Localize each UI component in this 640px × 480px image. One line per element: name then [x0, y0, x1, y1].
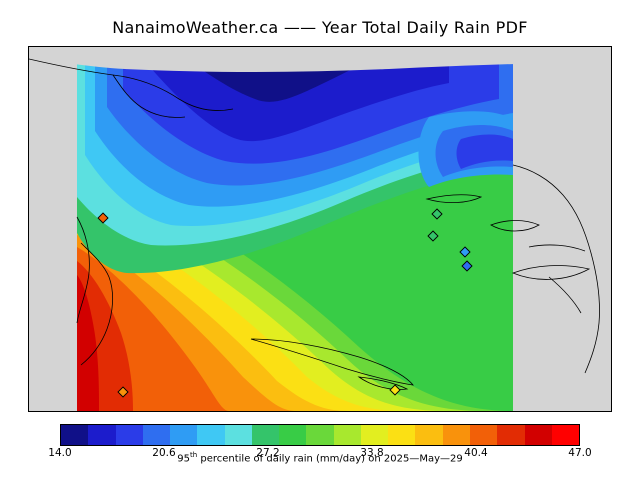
- chart-page: NanaimoWeather.ca —— Year Total Daily Ra…: [0, 0, 640, 480]
- colorbar-swatch-16: [497, 425, 524, 445]
- colorbar-caption: 95th percentile of daily rain (mm/day) o…: [0, 451, 640, 464]
- map-panel: [28, 46, 612, 412]
- colorbar-swatch-12: [388, 425, 415, 445]
- colorbar-swatch-6: [225, 425, 252, 445]
- colorbar-swatch-7: [252, 425, 279, 445]
- page-title: NanaimoWeather.ca —— Year Total Daily Ra…: [0, 18, 640, 37]
- colorbar-swatch-10: [334, 425, 361, 445]
- contour-field: [77, 47, 513, 411]
- colorbar-swatch-17: [525, 425, 552, 445]
- colorbar-swatch-15: [470, 425, 497, 445]
- colorbar-swatch-14: [443, 425, 470, 445]
- colorbar-swatch-3: [143, 425, 170, 445]
- caption-pre: 95: [177, 453, 190, 464]
- colorbar-swatch-1: [88, 425, 115, 445]
- colorbar-swatch-0: [61, 425, 88, 445]
- colorbar-container: 14.020.627.233.840.447.0: [60, 424, 580, 446]
- colorbar-swatch-2: [116, 425, 143, 445]
- rainfall-contour-map: [29, 47, 611, 411]
- colorbar-swatch-4: [170, 425, 197, 445]
- colorbar-swatch-11: [361, 425, 388, 445]
- colorbar-swatch-8: [279, 425, 306, 445]
- colorbar-swatch-5: [197, 425, 224, 445]
- colorbar: [60, 424, 580, 446]
- colorbar-swatch-13: [415, 425, 442, 445]
- colorbar-swatch-9: [306, 425, 333, 445]
- caption-post: percentile of daily rain (mm/day) on 202…: [197, 453, 463, 464]
- colorbar-swatch-18: [552, 425, 579, 445]
